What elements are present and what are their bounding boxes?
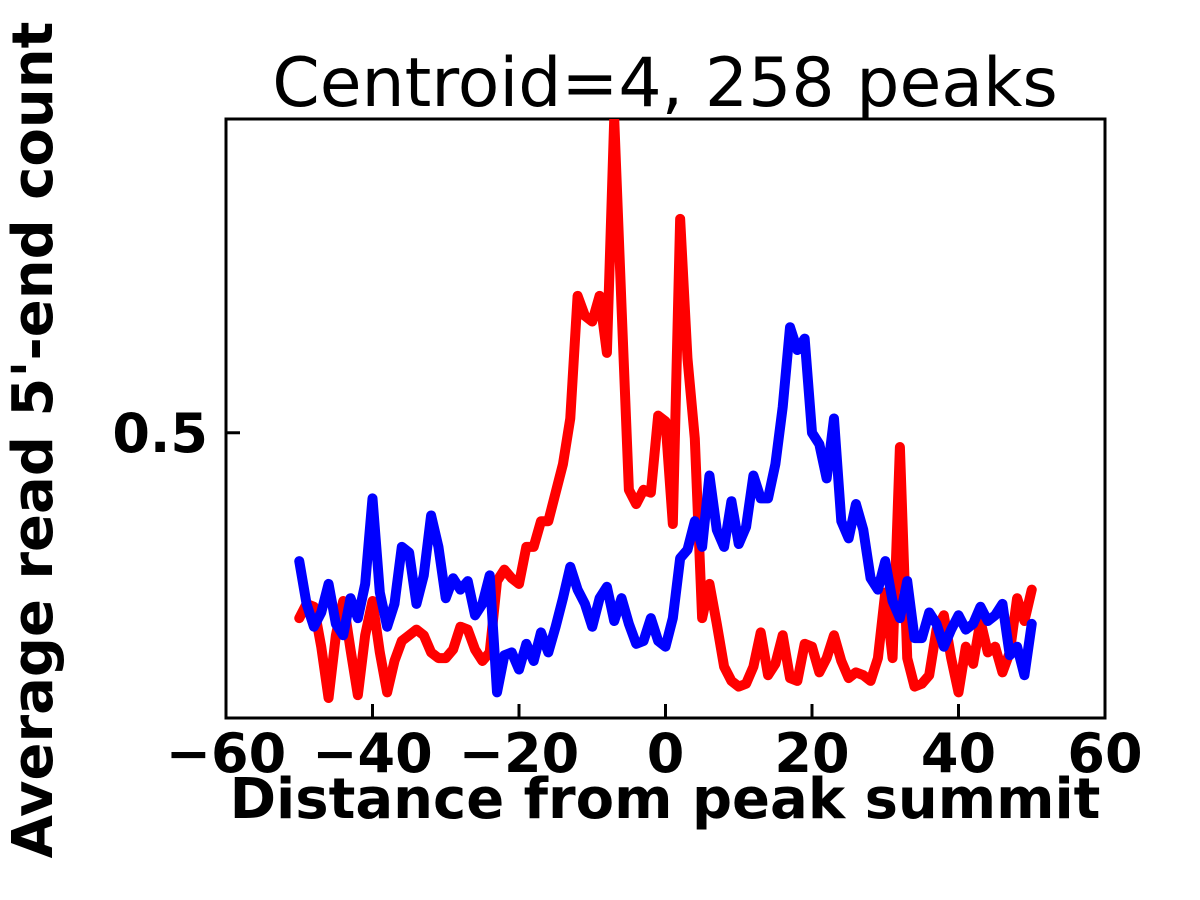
y-axis-tick-labels: 0.5 (112, 402, 208, 465)
x-axis-title: Distance from peak summit (230, 767, 1101, 832)
y-axis-title: Average read 5'-end count (1, 22, 66, 859)
line-chart: −60−40−200204060 0.5 Centroid=4, 258 pea… (0, 0, 1200, 900)
data-series-group (299, 119, 1032, 698)
y-tick-label: 0.5 (112, 402, 208, 465)
series-red-curve (299, 119, 1032, 698)
plot-title: Centroid=4, 258 peaks (272, 44, 1058, 123)
x-axis-ticks (226, 704, 1105, 718)
figure-container: −60−40−200204060 0.5 Centroid=4, 258 pea… (0, 0, 1200, 900)
